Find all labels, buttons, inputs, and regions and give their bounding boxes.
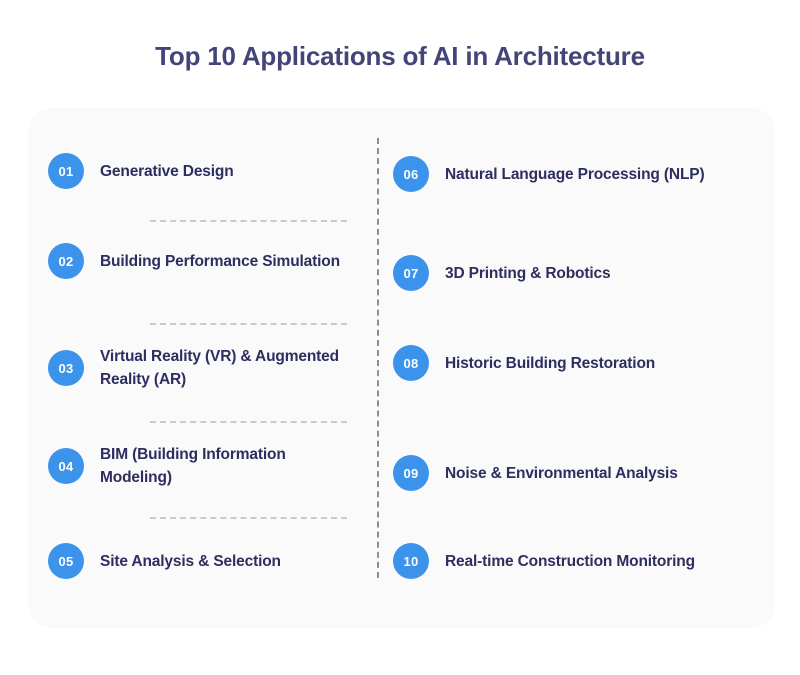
list-item[interactable]: 10 Real-time Construction Monitoring: [393, 543, 738, 579]
item-label: Site Analysis & Selection: [100, 550, 281, 573]
item-number-badge: 04: [48, 448, 84, 484]
item-label: Historic Building Restoration: [445, 352, 655, 375]
item-separator: [150, 323, 347, 325]
item-number-badge: 02: [48, 243, 84, 279]
item-number-badge: 01: [48, 153, 84, 189]
list-item[interactable]: 01 Generative Design: [48, 153, 368, 189]
right-column: 06 Natural Language Processing (NLP) 07 …: [393, 108, 738, 628]
item-label: Building Performance Simulation: [100, 250, 340, 273]
item-label: Noise & Environmental Analysis: [445, 462, 678, 485]
list-item[interactable]: 08 Historic Building Restoration: [393, 345, 738, 381]
item-number-badge: 07: [393, 255, 429, 291]
item-separator: [150, 220, 347, 222]
infographic-page: Top 10 Applications of AI in Architectur…: [0, 0, 800, 675]
left-column: 01 Generative Design 02 Building Perform…: [48, 108, 368, 628]
item-label: Virtual Reality (VR) & Augmented Reality…: [100, 345, 360, 391]
list-item[interactable]: 02 Building Performance Simulation: [48, 243, 368, 279]
page-title: Top 10 Applications of AI in Architectur…: [0, 38, 800, 74]
item-label: Natural Language Processing (NLP): [445, 163, 704, 186]
item-number-badge: 06: [393, 156, 429, 192]
item-number-badge: 10: [393, 543, 429, 579]
item-label: Generative Design: [100, 160, 234, 183]
list-item[interactable]: 03 Virtual Reality (VR) & Augmented Real…: [48, 345, 368, 391]
item-number-badge: 09: [393, 455, 429, 491]
item-label: BIM (Building Information Modeling): [100, 443, 360, 489]
item-number-badge: 03: [48, 350, 84, 386]
list-item[interactable]: 04 BIM (Building Information Modeling): [48, 443, 368, 489]
item-label: 3D Printing & Robotics: [445, 262, 610, 285]
list-item[interactable]: 09 Noise & Environmental Analysis: [393, 455, 738, 491]
list-item[interactable]: 07 3D Printing & Robotics: [393, 255, 738, 291]
list-item[interactable]: 06 Natural Language Processing (NLP): [393, 156, 738, 192]
list-item[interactable]: 05 Site Analysis & Selection: [48, 543, 368, 579]
item-separator: [150, 421, 347, 423]
item-separator: [150, 517, 347, 519]
item-label: Real-time Construction Monitoring: [445, 550, 695, 573]
item-number-badge: 05: [48, 543, 84, 579]
column-divider: [377, 138, 379, 578]
item-number-badge: 08: [393, 345, 429, 381]
content-card: 01 Generative Design 02 Building Perform…: [28, 108, 775, 628]
